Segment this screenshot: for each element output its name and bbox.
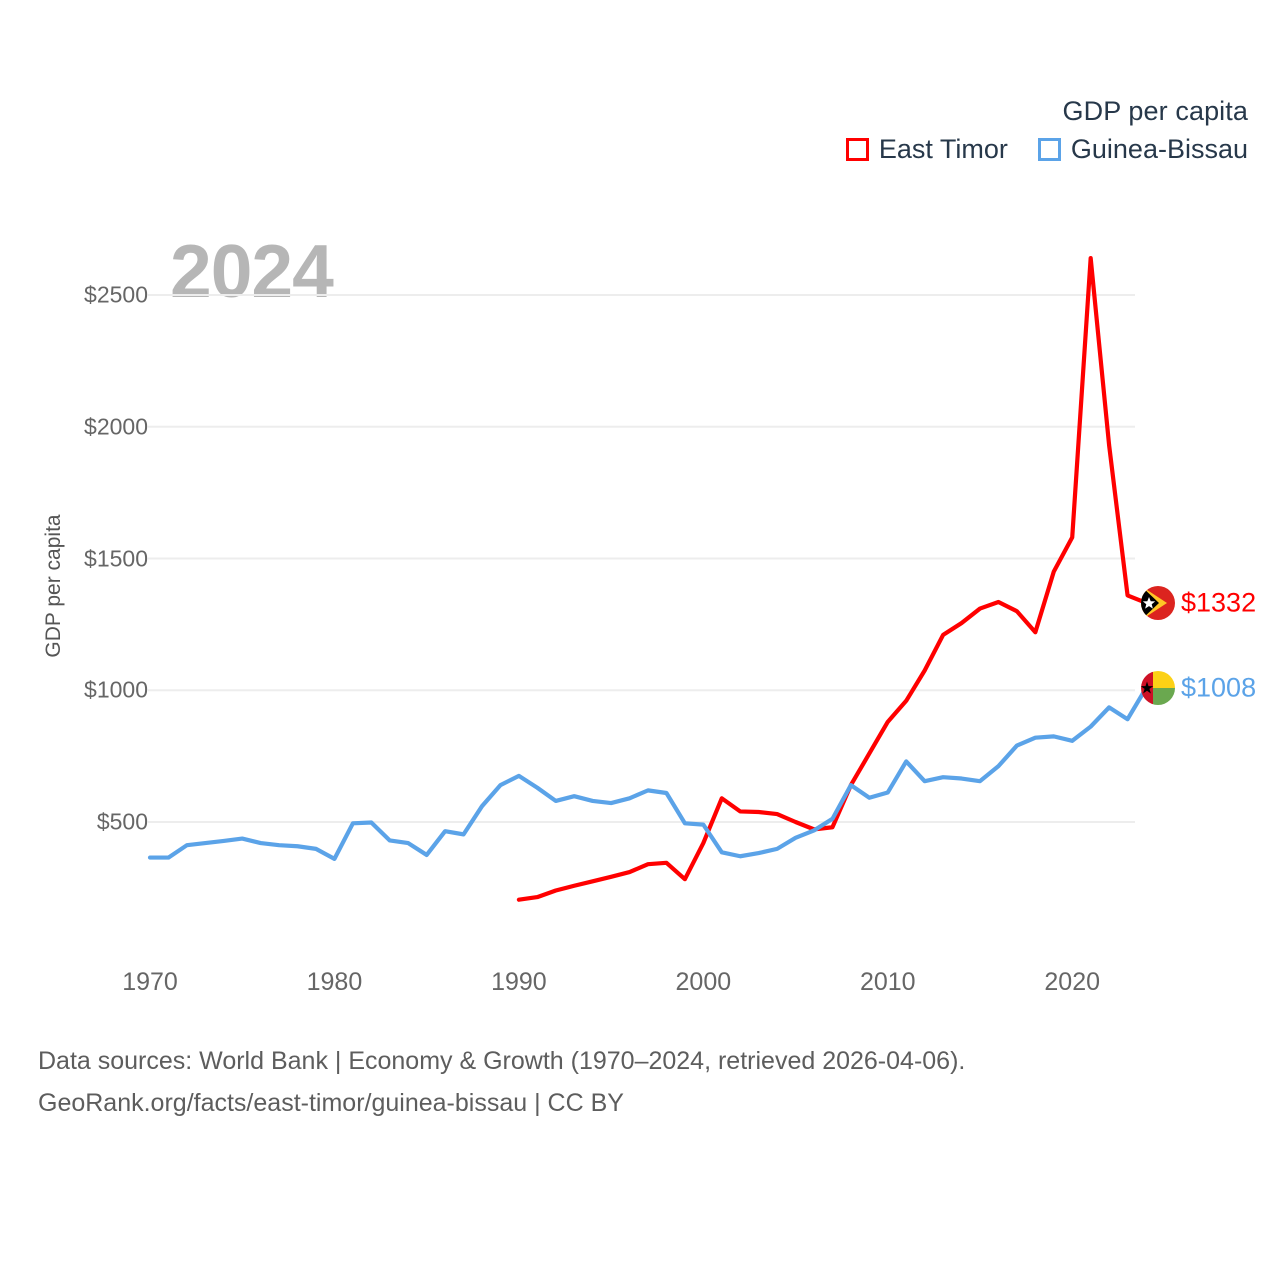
x-tick-label: 1990 (491, 968, 547, 997)
x-tick-label: 1970 (122, 968, 178, 997)
y-tick-label: $500 (48, 809, 148, 836)
y-tick-label: $1500 (48, 545, 148, 572)
footer-line-sources: Data sources: World Bank | Economy & Gro… (38, 1040, 965, 1082)
x-tick-label: 1980 (307, 968, 363, 997)
series-line-guinea-bissau (150, 688, 1146, 859)
footer-line-attribution: GeoRank.org/facts/east-timor/guinea-biss… (38, 1082, 965, 1124)
chart-footer: Data sources: World Bank | Economy & Gro… (38, 1040, 965, 1124)
x-tick-label: 2020 (1044, 968, 1100, 997)
y-axis-title: GDP per capita (42, 486, 66, 686)
y-tick-label: $2000 (48, 413, 148, 440)
x-tick-label: 2000 (676, 968, 732, 997)
chart-page: GDP per capita East Timor Guinea-Bissau … (0, 0, 1280, 1280)
x-tick-label: 2010 (860, 968, 916, 997)
y-tick-label: $1000 (48, 677, 148, 704)
end-value-label-guinea-bissau: $1008 (1181, 675, 1256, 702)
end-value-label-east-timor: $1332 (1181, 589, 1256, 616)
y-tick-label: $2500 (48, 282, 148, 309)
guinea-bissau-flag (1141, 671, 1175, 705)
east-timor-flag (1141, 586, 1175, 620)
